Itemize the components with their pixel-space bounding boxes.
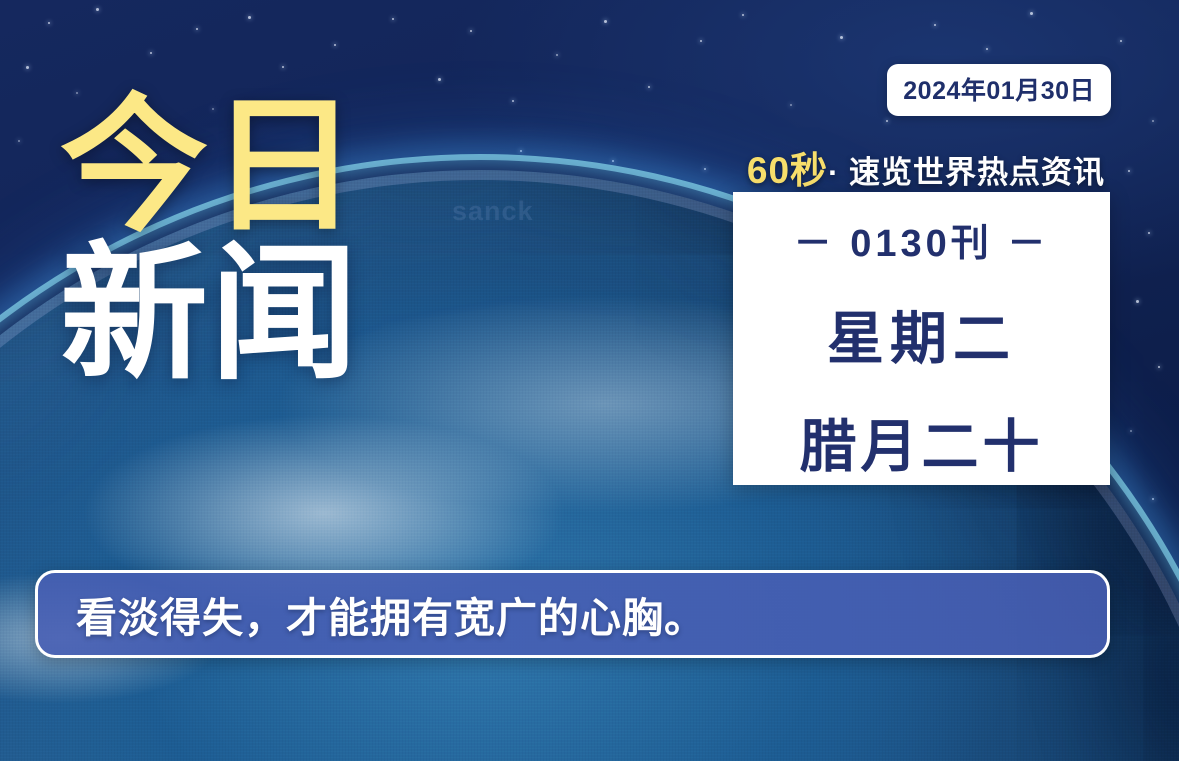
watermark-text: sanck [452,196,534,227]
page-title-line-2: 新闻 [60,244,360,386]
tagline: 60秒· 速览世界热点资讯 [747,140,1105,194]
weekday-label: 星期二 [827,293,1016,375]
date-badge: 2024年01月30日 [887,64,1111,116]
quote-text: 看淡得失，才能拥有宽广的心胸。 [38,584,706,644]
page-title: 今日 新闻 [60,96,360,386]
page-title-line-1: 今日 [60,96,360,238]
tagline-rest: · 速览世界热点资讯 [828,155,1105,190]
lunar-date: 腊月二十 [800,401,1044,483]
quote-banner: 看淡得失，才能拥有宽广的心胸。 [35,570,1110,658]
issue-info-card: － 0130刊 － 星期二 腊月二十 [733,192,1110,485]
news-poster: sanck 今日 新闻 2024年01月30日 60秒· 速览世界热点资讯 － … [0,0,1179,761]
tagline-seconds: 60秒 [747,150,828,191]
issue-number: － 0130刊 － [794,212,1050,267]
